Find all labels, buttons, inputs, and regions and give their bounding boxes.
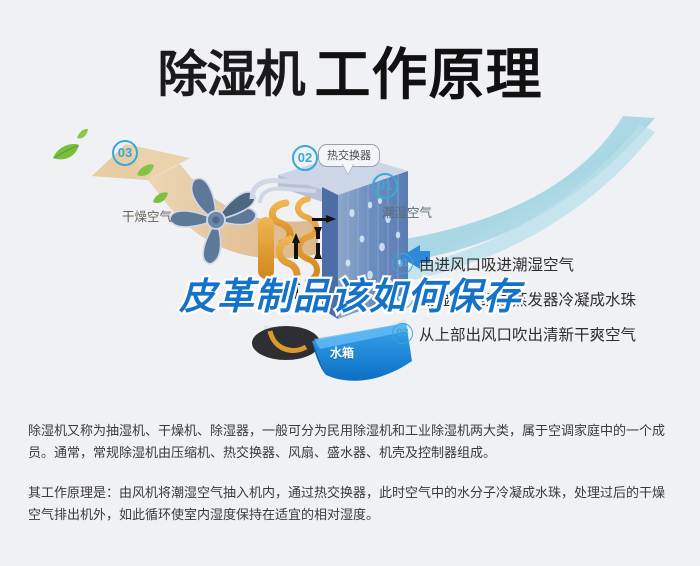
- badge-exhaust-03: 03: [112, 140, 138, 166]
- list-item: 03 从上部出风口吹出清新干爽空气: [392, 318, 682, 349]
- page-title-part2: 工作原理: [315, 43, 543, 106]
- leaf-icon: [52, 142, 80, 162]
- step-number: 03: [392, 323, 413, 344]
- callout-tail: [342, 163, 354, 174]
- body-paragraph-1: 除湿机又称为抽湿机、干燥机、除湿器，一般可分为民用除湿机和工业除湿机两大类，属于…: [28, 420, 676, 464]
- body-paragraph-2: 其工作原理是：由风机将潮湿空气抽入机内，通过热交换器，此时空气中的水分子冷凝成水…: [28, 482, 676, 526]
- label-humid-air: 潮湿空气: [382, 202, 432, 221]
- watermark-overlay-text: 皮革制品该如何保存: [0, 266, 700, 320]
- label-dry-air: 干燥空气: [122, 206, 172, 225]
- label-water-tank: 水箱: [330, 344, 354, 361]
- page-title-part1: 除湿机: [158, 46, 305, 104]
- page-root: 除湿机工作原理: [0, 0, 700, 566]
- badge-intake-01: 01: [372, 173, 398, 199]
- leaf-icon: [136, 163, 155, 178]
- step-label: 从上部出风口吹出清新干爽空气: [419, 323, 636, 345]
- page-title: 除湿机工作原理: [0, 30, 700, 111]
- badge-exchanger-02: 02: [292, 145, 318, 171]
- leaf-icon: [76, 128, 89, 140]
